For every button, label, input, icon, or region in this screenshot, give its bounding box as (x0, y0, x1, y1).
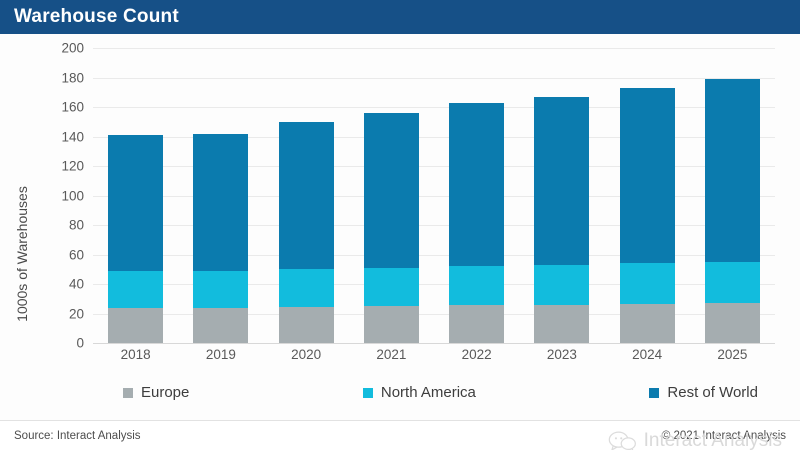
stacked-bar[interactable] (364, 113, 419, 343)
chart-canvas: 1000s of Warehouses 20018016014012010080… (0, 34, 800, 420)
bar-segment-north-america[interactable] (449, 266, 504, 305)
bar-segment-rest-of-world[interactable] (193, 134, 248, 271)
plot-area: 200180160140120100806040200 (93, 48, 775, 343)
bar-slot-2021 (349, 48, 434, 343)
bar-segment-europe[interactable] (193, 308, 248, 343)
bar-segment-north-america[interactable] (108, 271, 163, 308)
y-axis-tick-label: 200 (61, 41, 93, 56)
y-axis-tick-label: 40 (69, 277, 93, 292)
x-axis-tick-label: 2024 (605, 347, 690, 362)
bar-slot-2024 (605, 48, 690, 343)
stacked-bar[interactable] (534, 97, 589, 343)
bar-segment-north-america[interactable] (279, 269, 334, 307)
bar-slot-2023 (519, 48, 604, 343)
y-axis-tick-label: 160 (61, 100, 93, 115)
bar-slot-2022 (434, 48, 519, 343)
source-note: Source: Interact Analysis (14, 430, 141, 442)
bar-segment-rest-of-world[interactable] (449, 103, 504, 267)
gridline-0: 0 (93, 343, 775, 344)
bar-segment-europe[interactable] (108, 308, 163, 343)
bar-segment-north-america[interactable] (620, 263, 675, 304)
x-axis-tick-label: 2019 (178, 347, 263, 362)
chart-screenshot: Warehouse Count 1000s of Warehouses 2001… (0, 0, 800, 450)
legend-label: Rest of World (667, 384, 758, 401)
bar-segment-europe[interactable] (705, 303, 760, 343)
bar-slot-2019 (178, 48, 263, 343)
legend-label: North America (381, 384, 476, 401)
legend-swatch (649, 388, 659, 398)
x-axis-tick-label: 2025 (690, 347, 775, 362)
legend-item-europe[interactable]: Europe (123, 384, 189, 401)
bar-slot-2025 (690, 48, 775, 343)
bar-segment-rest-of-world[interactable] (705, 79, 760, 262)
y-axis-title-text: 1000s of Warehouses (14, 186, 30, 322)
bar-segment-rest-of-world[interactable] (534, 97, 589, 265)
y-axis-tick-label: 60 (69, 247, 93, 262)
bar-slot-2018 (93, 48, 178, 343)
bar-segment-north-america[interactable] (364, 268, 419, 306)
stacked-bar[interactable] (279, 122, 334, 343)
x-axis-tick-label: 2022 (434, 347, 519, 362)
legend-item-north-america[interactable]: North America (363, 384, 476, 401)
stacked-bar[interactable] (108, 135, 163, 343)
y-axis-tick-label: 120 (61, 159, 93, 174)
x-axis-tick-label: 2021 (349, 347, 434, 362)
legend-swatch (123, 388, 133, 398)
y-axis-tick-label: 100 (61, 188, 93, 203)
copyright-note: © 2021 Interact Analysis (662, 430, 786, 442)
y-axis-tick-label: 20 (69, 306, 93, 321)
x-axis-tick-label: 2023 (519, 347, 604, 362)
bar-segment-rest-of-world[interactable] (108, 135, 163, 271)
bar-segment-europe[interactable] (364, 306, 419, 343)
bar-series-group (93, 48, 775, 343)
stacked-bar[interactable] (705, 79, 760, 343)
legend-item-rest-of-world[interactable]: Rest of World (649, 384, 758, 401)
y-axis-tick-label: 140 (61, 129, 93, 144)
bar-segment-europe[interactable] (449, 305, 504, 343)
x-axis-tick-label: 2020 (264, 347, 349, 362)
bar-segment-north-america[interactable] (705, 262, 760, 303)
x-axis-tick-labels: 20182019202020212022202320242025 (93, 347, 775, 362)
x-axis-tick-label: 2018 (93, 347, 178, 362)
legend-label: Europe (141, 384, 189, 401)
legend-swatch (363, 388, 373, 398)
chart-header-bar: Warehouse Count (0, 0, 800, 34)
bar-segment-europe[interactable] (534, 305, 589, 343)
stacked-bar[interactable] (620, 88, 675, 343)
y-axis-tick-label: 80 (69, 218, 93, 233)
bar-segment-rest-of-world[interactable] (279, 122, 334, 270)
bar-segment-north-america[interactable] (534, 265, 589, 305)
page-title: Warehouse Count (14, 6, 179, 28)
chart-legend: EuropeNorth AmericaRest of World (93, 384, 780, 401)
bar-segment-europe[interactable] (279, 307, 334, 343)
bar-segment-europe[interactable] (620, 304, 675, 343)
chart-footer: Source: Interact Analysis © 2021 Interac… (0, 420, 800, 450)
y-axis-title: 1000s of Warehouses (10, 154, 34, 354)
bar-segment-north-america[interactable] (193, 271, 248, 308)
stacked-bar[interactable] (193, 134, 248, 343)
bar-slot-2020 (264, 48, 349, 343)
stacked-bar[interactable] (449, 103, 504, 343)
bar-segment-rest-of-world[interactable] (364, 113, 419, 268)
bar-segment-rest-of-world[interactable] (620, 88, 675, 264)
y-axis-tick-label: 180 (61, 70, 93, 85)
y-axis-tick-label: 0 (76, 336, 93, 351)
